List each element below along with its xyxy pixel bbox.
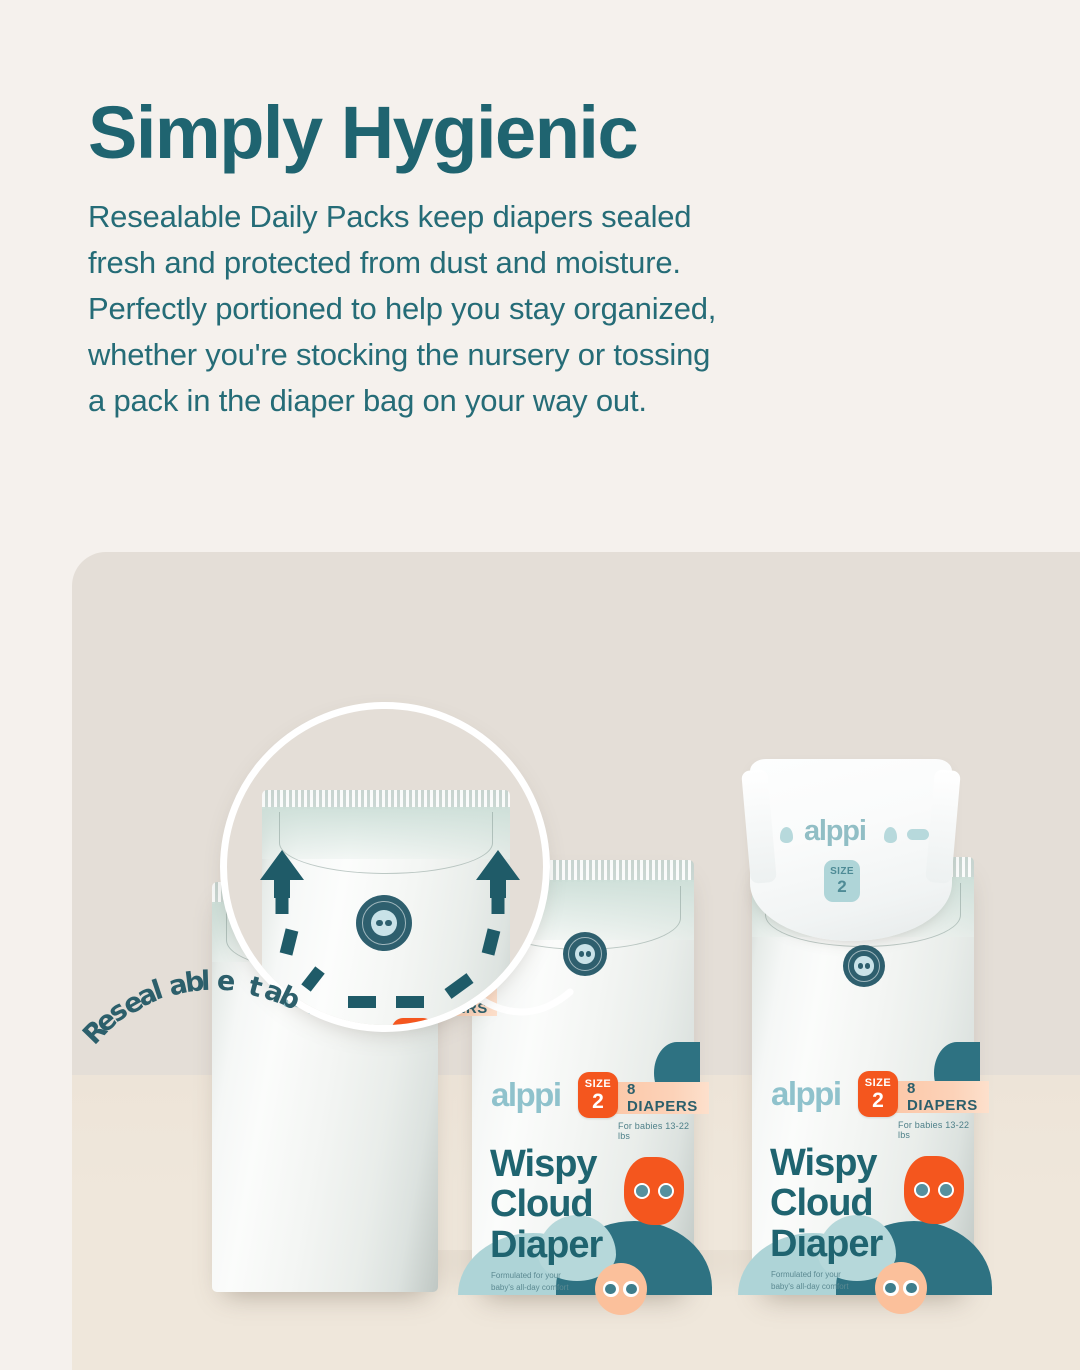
tagline-line: Formulated for your <box>771 1269 849 1281</box>
size-badge: SIZE 2 <box>578 1072 618 1118</box>
package-brand-wordmark: alppi <box>491 1076 561 1114</box>
seal-badge-icon <box>356 895 412 951</box>
product-name: Wispy Cloud Diaper <box>490 1144 602 1265</box>
face-eye <box>883 1280 899 1296</box>
paragraph-line: fresh and protected from dust and moistu… <box>88 240 948 286</box>
diaper-brand-wordmark: alppi <box>804 815 866 848</box>
paragraph-line: whether you're stocking the nursery or t… <box>88 332 948 378</box>
face-eye <box>603 1281 619 1297</box>
product-name-line: Wispy <box>490 1144 602 1184</box>
weight-range-label: For babies 13-22 lbs <box>898 1120 974 1140</box>
package-brand-wordmark: alppi <box>771 1075 841 1113</box>
face-eye <box>914 1182 930 1198</box>
intro-paragraph: Resealable Daily Packs keep diapers seal… <box>88 194 948 423</box>
face-eye <box>623 1281 639 1297</box>
size-word: SIZE <box>585 1079 611 1090</box>
face-eye <box>658 1183 674 1199</box>
product-tagline: Formulated for your baby's all-day comfo… <box>771 1269 849 1292</box>
tagline-line: Formulated for your <box>491 1270 569 1282</box>
product-image-panel: alppi 8 DIAPERS SIZE 2 For babies 13-22 … <box>72 552 1080 1370</box>
orange-face-blob-icon <box>624 1157 684 1225</box>
product-name: Wispy Cloud Diaper <box>770 1143 882 1264</box>
product-name-line: Diaper <box>770 1224 882 1264</box>
face-eye <box>938 1182 954 1198</box>
seal-ring <box>362 901 406 945</box>
size-number: 2 <box>592 1091 604 1112</box>
size-number: 2 <box>872 1090 884 1111</box>
tagline-line: baby's all-day comfort <box>771 1281 849 1293</box>
size-word: SIZE <box>865 1078 891 1089</box>
seal-ring <box>568 937 602 971</box>
resealable-flap-arc <box>279 812 492 874</box>
page-title: Simply Hygienic <box>88 96 948 170</box>
diaper-size-word: SIZE <box>830 867 854 877</box>
paragraph-line: Perfectly portioned to help you stay org… <box>88 286 948 332</box>
product-name-line: Cloud <box>490 1184 602 1224</box>
size-badge: SIZE 2 <box>858 1071 898 1117</box>
product-tagline: Formulated for your baby's all-day comfo… <box>491 1270 569 1293</box>
peach-face-blob-icon <box>595 1263 647 1315</box>
paragraph-line: a pack in the diaper bag on your way out… <box>88 378 948 424</box>
resealable-tab-label: Resealable tab <box>128 952 448 1082</box>
diaper-product: alppi SIZE 2 <box>750 759 952 941</box>
diaper-dot-mark <box>884 827 897 843</box>
diaper-size-number: 2 <box>837 878 846 895</box>
peach-face-blob-icon <box>875 1262 927 1314</box>
orange-face-blob-icon <box>904 1156 964 1224</box>
weight-range-label: For babies 13-22 lbs <box>618 1121 694 1141</box>
diaper-dash-mark <box>907 829 929 840</box>
tagline-line: baby's all-day comfort <box>491 1282 569 1294</box>
diaper-dot-mark <box>780 827 793 843</box>
seal-ring <box>848 950 881 983</box>
product-name-line: Diaper <box>490 1225 602 1265</box>
paragraph-line: Resealable Daily Packs keep diapers seal… <box>88 194 948 240</box>
seal-badge-icon <box>843 945 885 987</box>
label-char: l <box>201 966 211 997</box>
product-name-line: Wispy <box>770 1143 882 1183</box>
face-eye <box>903 1280 919 1296</box>
seal-badge-icon <box>563 932 607 976</box>
product-name-line: Cloud <box>770 1183 882 1223</box>
face-eye <box>634 1183 650 1199</box>
intro-text-block: Simply Hygienic Resealable Daily Packs k… <box>88 96 948 423</box>
diaper-size-badge: SIZE 2 <box>824 860 860 902</box>
